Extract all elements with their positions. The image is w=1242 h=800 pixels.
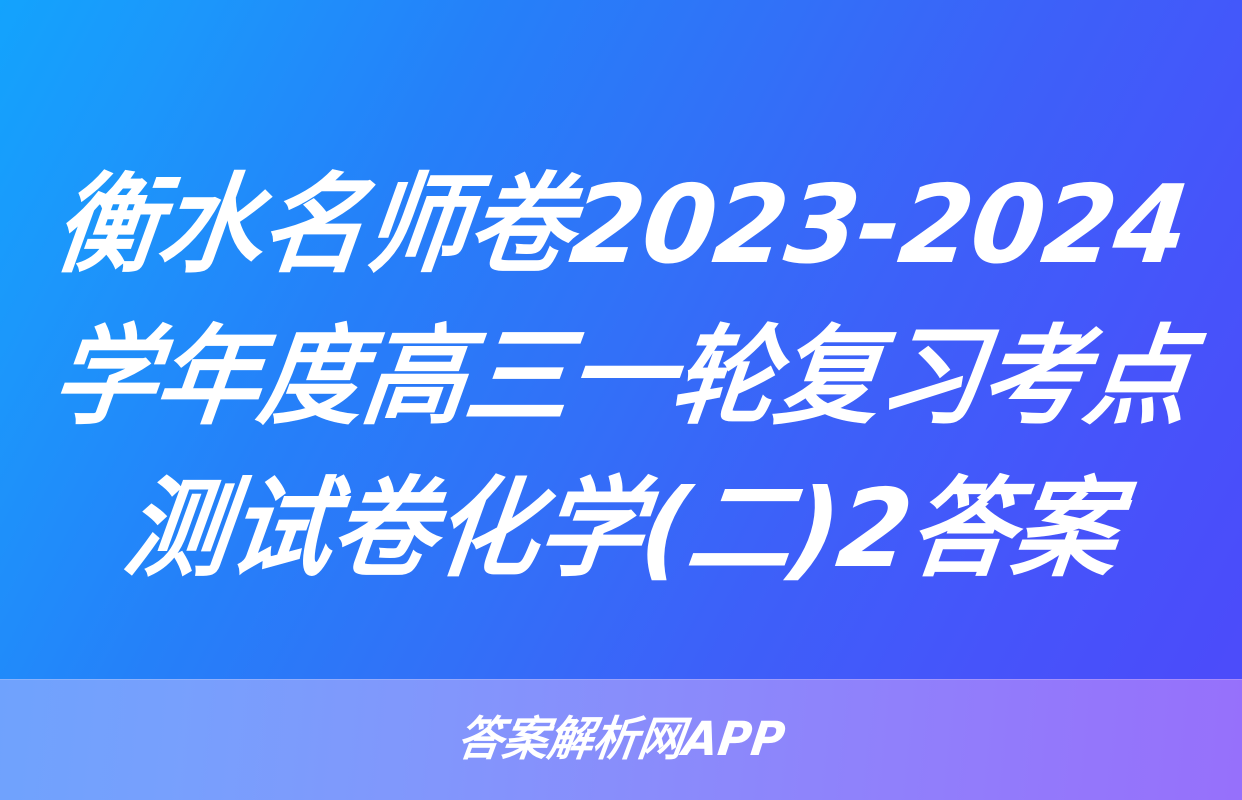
- app-promo-banner[interactable]: 答案解析网APP: [0, 679, 1242, 800]
- page-title-line-1: 衡水名师卷2023-2024: [40, 150, 1203, 302]
- page-title: 衡水名师卷2023-2024 学年度高三一轮复习考点 测试卷化学(二)2答案: [0, 150, 1242, 606]
- poster-canvas: 衡水名师卷2023-2024 学年度高三一轮复习考点 测试卷化学(二)2答案 答…: [0, 0, 1242, 800]
- page-title-line-2: 学年度高三一轮复习考点: [40, 302, 1203, 454]
- page-title-line-3: 测试卷化学(二)2答案: [40, 454, 1203, 606]
- app-promo-label: 答案解析网APP: [454, 716, 787, 763]
